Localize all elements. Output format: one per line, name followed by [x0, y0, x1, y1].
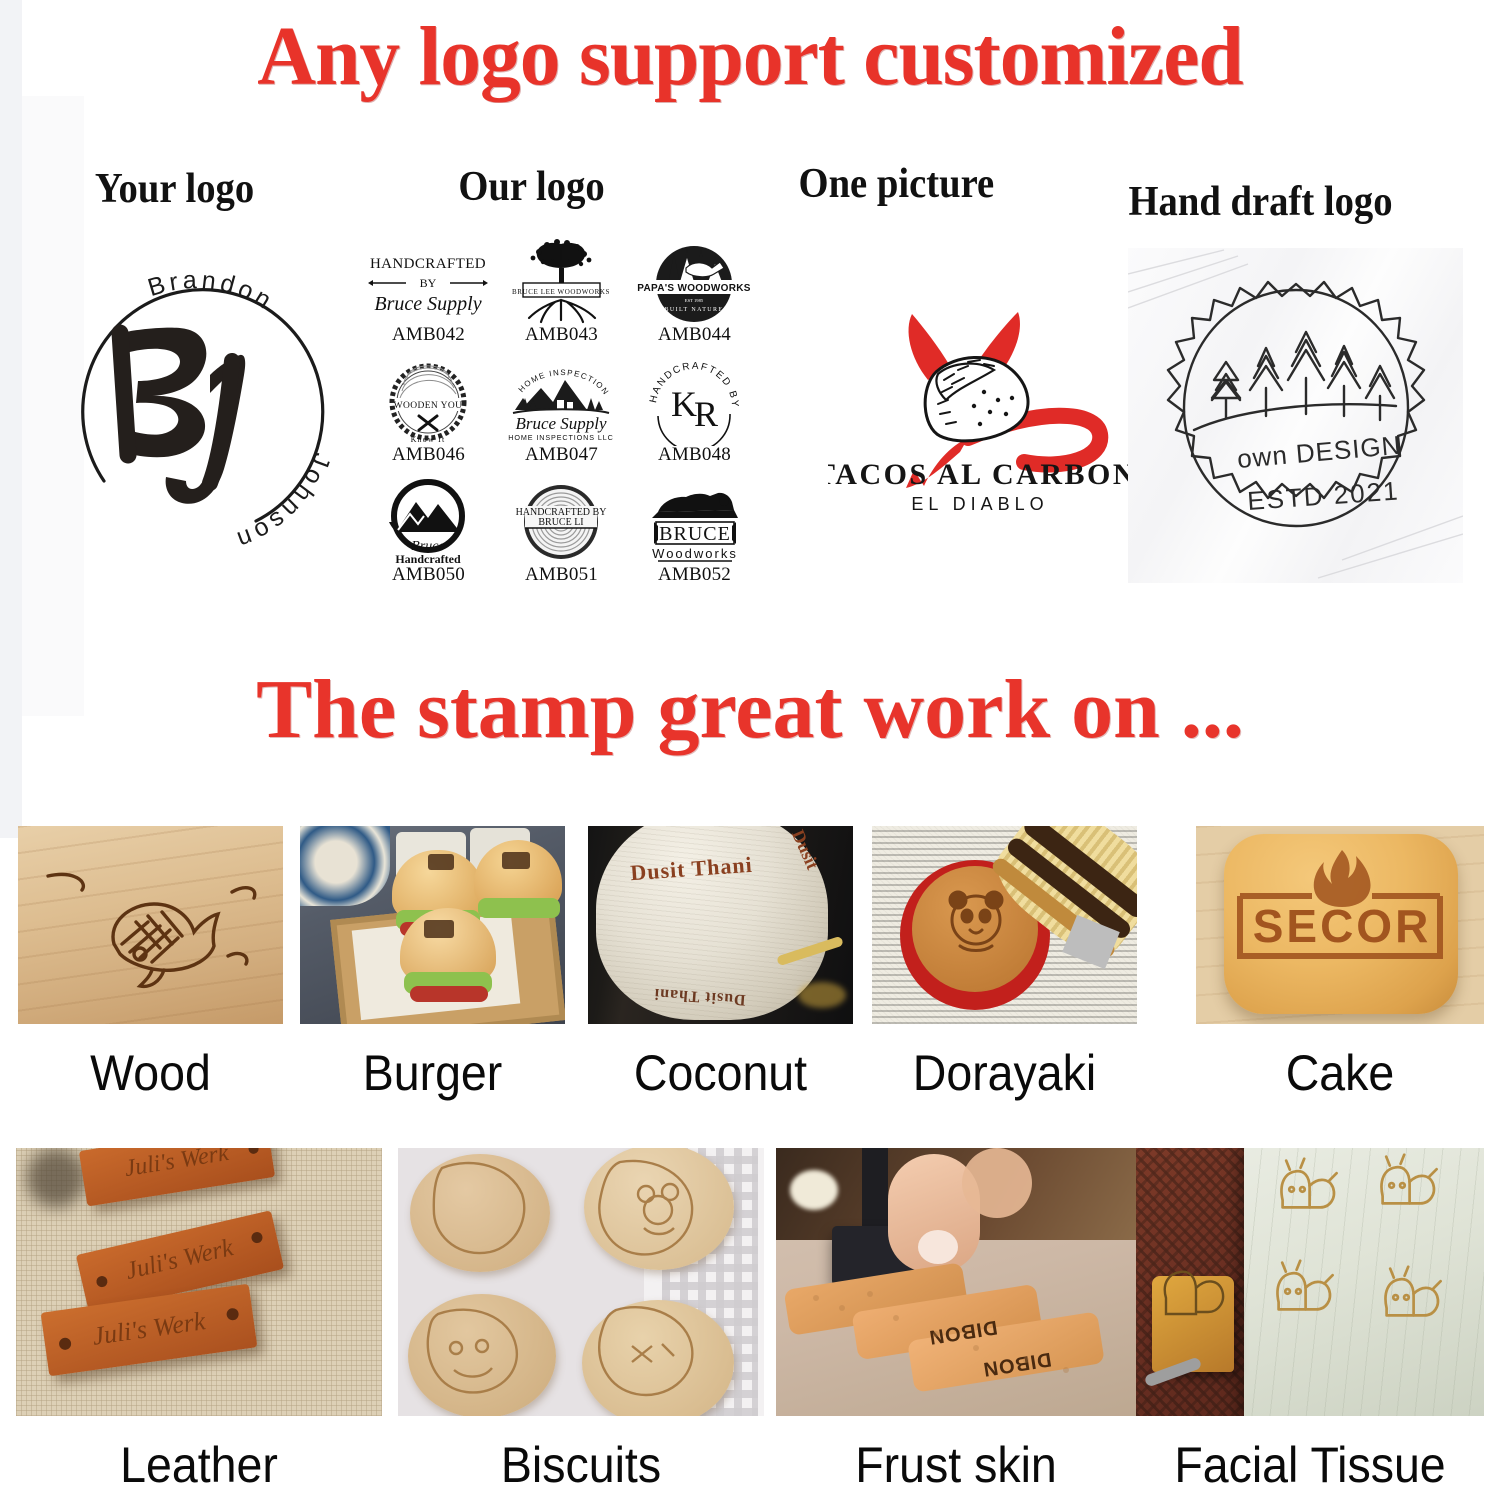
logo-code: AMB046 — [362, 444, 495, 466]
material-label-biscuits: Biscuits — [411, 1436, 751, 1494]
logo-item-amb043[interactable]: BRUCE LEE WOODWORKS AMB043 — [495, 238, 628, 358]
material-label-dorayaki: Dorayaki — [881, 1044, 1127, 1102]
material-photo-burger[interactable] — [300, 826, 565, 1024]
svg-text:DIBON: DIBON — [981, 1348, 1053, 1381]
taco-tagline-text: EL DIABLO — [911, 494, 1048, 514]
tree-with-roots-icon: BRUCE LEE WOODWORKS — [495, 238, 628, 326]
logo-item-amb046[interactable]: WOODEN YOU Know It AMB046 — [362, 358, 495, 478]
logo-item-amb042[interactable]: HANDCRAFTED BY Bruce Supply AMB042 — [362, 238, 495, 358]
svg-text:R: R — [694, 394, 718, 434]
svg-text:BRUCE: BRUCE — [659, 523, 731, 545]
logo-code: AMB048 — [628, 444, 761, 466]
logo-item-amb048[interactable]: HANDCRAFTED BY K R AMB048 — [628, 358, 761, 478]
logo-code: AMB047 — [495, 444, 628, 466]
material-label-coconut: Coconut — [597, 1044, 843, 1102]
papas-woodworks-badge-icon: PAPA'S WOODWORKS EST 1985 BUILT NATURE — [628, 238, 761, 326]
tissue-gold-foil-stamp-icon — [1136, 1148, 1484, 1416]
svg-text:BRUCE LEE WOODWORKS: BRUCE LEE WOODWORKS — [512, 288, 610, 296]
material-label-leather: Leather — [29, 1436, 369, 1494]
sketch-pines-sawblade-icon: own DESIGN ESTD 2021 — [1128, 248, 1463, 583]
material-label-frust-skin: Frust skin — [789, 1436, 1124, 1494]
svg-text:Bruce Supply: Bruce Supply — [515, 414, 607, 433]
logo-item-amb047[interactable]: HOME INSPECTIONS LLC Bruce Supply HOME I… — [495, 358, 628, 478]
column-header-one-picture: One picture — [799, 160, 995, 208]
biscuit-stamp-icons — [398, 1148, 764, 1416]
our-logo-grid: HANDCRAFTED BY Bruce Supply AMB042 — [362, 238, 762, 596]
one-picture-sample: TACOS AL CARBON EL DIABLO — [828, 288, 1128, 528]
svg-text:BY: BY — [420, 276, 437, 290]
bruce-handcrafted-mountain-icon: Bruce Handcrafted — [362, 478, 495, 566]
logo-code: AMB050 — [362, 564, 495, 586]
logo-item-amb044[interactable]: PAPA'S WOODWORKS EST 1985 BUILT NATURE A… — [628, 238, 761, 358]
logo-code: AMB043 — [495, 324, 628, 346]
column-header-our-logo: Our logo — [458, 163, 604, 211]
svg-text:Dusit Thani: Dusit Thani — [630, 852, 754, 885]
logo-item-amb050[interactable]: Bruce Handcrafted AMB050 — [362, 478, 495, 598]
leather-stamp-text-3: Juli's Werk — [43, 1300, 255, 1359]
bj-stamp-icon: Brandon Johnson — [60, 243, 360, 561]
svg-text:BRUCE LI: BRUCE LI — [538, 517, 583, 528]
home-inspections-mountain-icon: HOME INSPECTIONS LLC Bruce Supply HOME I… — [495, 358, 628, 446]
page-title: Any logo support customized — [23, 8, 1478, 106]
hand-draft-sample: own DESIGN ESTD 2021 — [1128, 248, 1463, 583]
hand-draft-line1: own DESIGN — [1236, 430, 1403, 474]
fish-burn-mark-icon — [18, 826, 283, 1024]
secor-flame-stamp-icon: SECOR — [1196, 826, 1484, 1024]
column-header-your-logo: Your logo — [95, 165, 254, 213]
logo-item-amb052[interactable]: BRUCE Woodworks AMB052 — [628, 478, 761, 598]
handcrafted-by-bruce-supply-icon: HANDCRAFTED BY Bruce Supply — [362, 238, 495, 326]
frust-skin-stamp-icon: DIBON DIBON — [776, 1148, 1136, 1416]
your-logo-sample: Brandon Johnson — [60, 243, 360, 561]
svg-text:Know It: Know It — [411, 435, 446, 444]
material-photo-wood[interactable] — [18, 826, 283, 1024]
material-photo-frust-skin[interactable]: DIBON DIBON — [776, 1148, 1136, 1416]
material-label-wood: Wood — [27, 1044, 273, 1102]
logo-code: AMB051 — [495, 564, 628, 586]
material-label-facial-tissue: Facial Tissue — [1148, 1436, 1472, 1494]
svg-text:Johnson: Johnson — [230, 449, 336, 555]
material-photo-leather[interactable]: Juli's Werk Juli's Werk Juli's Werk — [16, 1148, 382, 1416]
svg-text:HANDCRAFTED: HANDCRAFTED — [370, 256, 486, 272]
svg-text:Dusit: Dusit — [788, 827, 823, 873]
material-photo-coconut[interactable]: Dusit Thani Dusit Dusit Thani — [588, 826, 853, 1024]
logo-code: AMB042 — [362, 324, 495, 346]
svg-text:BUILT NATURE: BUILT NATURE — [665, 307, 724, 313]
svg-text:PAPA'S WOODWORKS: PAPA'S WOODWORKS — [637, 283, 751, 294]
material-label-burger: Burger — [309, 1044, 555, 1102]
wooden-you-know-it-badge-icon: WOODEN YOU Know It — [362, 358, 495, 446]
section-title: The stamp great work on ... — [0, 660, 1500, 760]
material-label-cake: Cake — [1206, 1044, 1474, 1102]
svg-text:EST 1985: EST 1985 — [685, 298, 704, 303]
svg-text:Dusit Thani: Dusit Thani — [653, 985, 746, 1008]
logo-item-amb051[interactable]: HANDCRAFTED BY BRUCE LI AMB051 — [495, 478, 628, 598]
hand-draft-line2: ESTD 2021 — [1246, 475, 1400, 516]
infographic-page: Any logo support customized Your logo Ou… — [0, 0, 1500, 1500]
column-header-hand-draft-logo: Hand draft logo — [1128, 178, 1392, 226]
svg-text:HOME INSPECTIONS LLC: HOME INSPECTIONS LLC — [495, 358, 611, 397]
material-photo-facial-tissue[interactable] — [1136, 1148, 1484, 1416]
logo-code: AMB052 — [628, 564, 761, 586]
materials-row-1: Wood — [0, 826, 1500, 1100]
material-photo-dorayaki[interactable] — [872, 826, 1137, 1024]
material-photo-biscuits[interactable] — [398, 1148, 764, 1416]
svg-text:Brandon: Brandon — [145, 266, 280, 316]
handcrafted-bruce-li-woodslice-icon: HANDCRAFTED BY BRUCE LI — [495, 478, 628, 566]
bruce-woodworks-plane-icon: BRUCE Woodworks — [628, 478, 761, 566]
material-photo-cake[interactable]: SECOR — [1196, 826, 1484, 1024]
kr-monogram-circle-icon: HANDCRAFTED BY K R — [628, 358, 761, 446]
svg-text:WOODEN YOU: WOODEN YOU — [394, 401, 463, 411]
taco-brand-text: TACOS AL CARBON — [828, 458, 1128, 491]
burger-stamp-icon — [300, 826, 565, 1024]
logo-code: AMB044 — [628, 324, 761, 346]
svg-text:Bruce Supply: Bruce Supply — [374, 293, 481, 315]
svg-text:Woodworks: Woodworks — [652, 546, 738, 561]
materials-row-2: Juli's Werk Juli's Werk Juli's Werk — [0, 1148, 1500, 1500]
svg-text:HOME INSPECTIONS LLC: HOME INSPECTIONS LLC — [508, 433, 613, 442]
devil-taco-logo-icon: TACOS AL CARBON EL DIABLO — [828, 288, 1128, 528]
cake-stamp-text: SECOR — [1253, 900, 1432, 952]
